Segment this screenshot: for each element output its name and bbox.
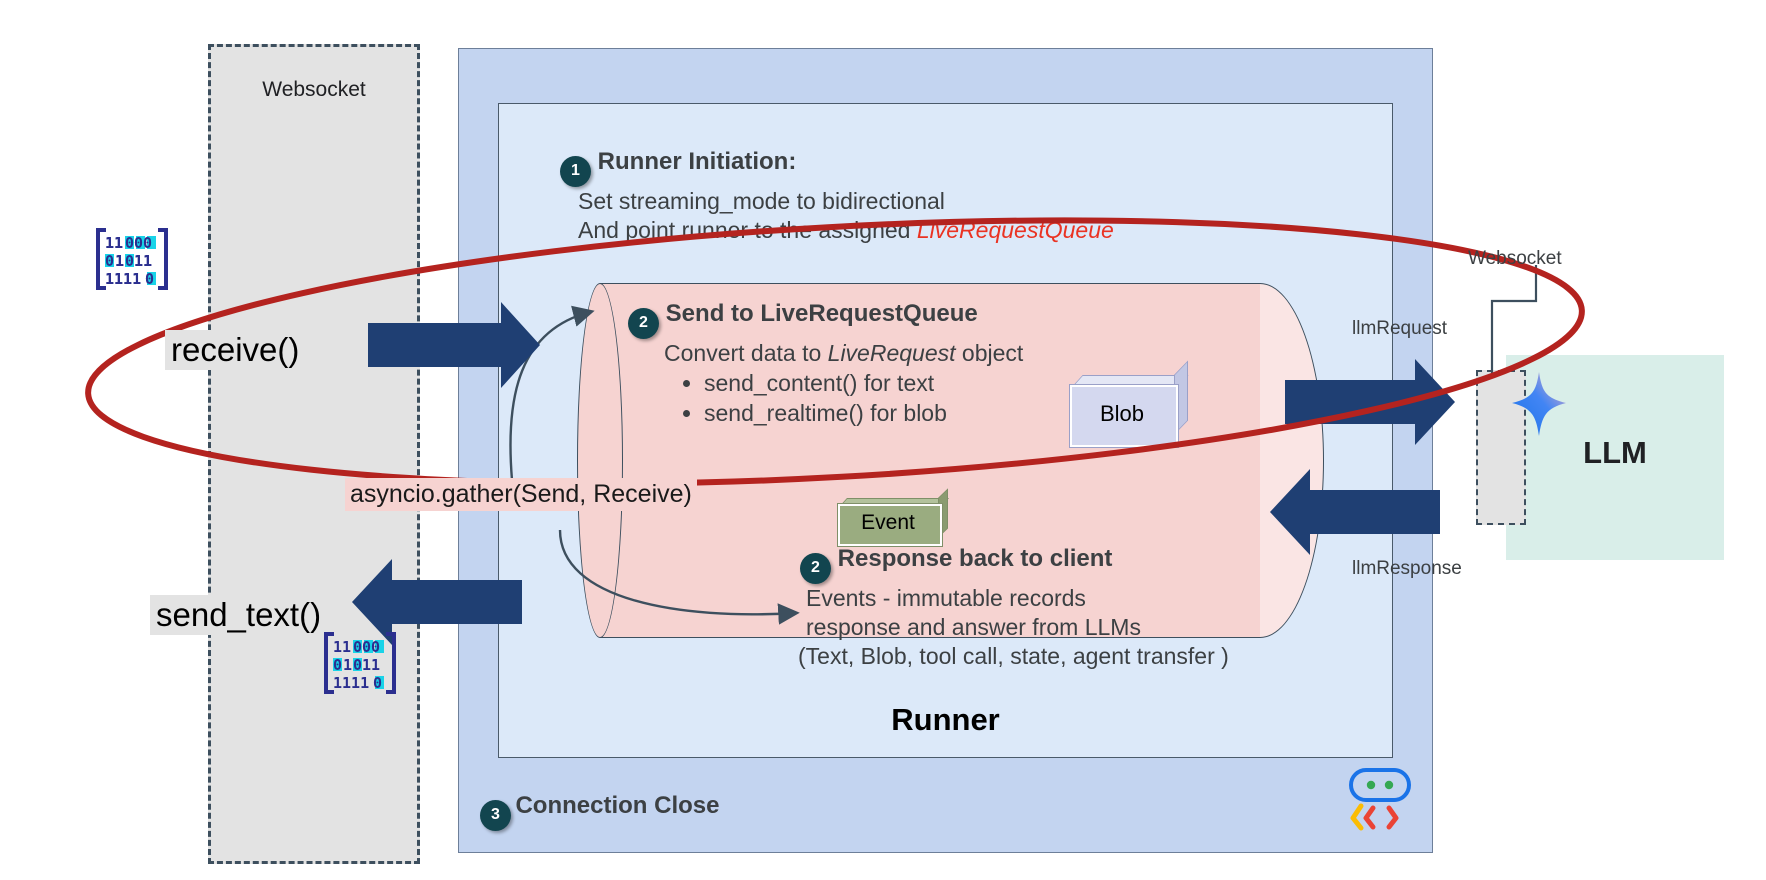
step-2-subtitle-suffix: object (956, 340, 1024, 366)
step-2-heading: 2 Send to LiveRequestQueue (628, 300, 1188, 339)
step-1-heading: 1 Runner Initiation: (560, 148, 1260, 187)
step-1-badge: 1 (560, 156, 591, 187)
step-3-badge: 2 (800, 553, 831, 584)
step-4-block: 3 Connection Close (480, 792, 719, 831)
websocket-client-box (208, 44, 420, 864)
step-3-title: Response back to client (838, 545, 1113, 572)
step-2-subtitle-emphasis: LiveRequest (828, 340, 956, 366)
step-1-emphasis: LiveRequestQueue (917, 217, 1114, 243)
binary-data-icon: 11000 01011 11110 11000 01011 11110 (94, 228, 170, 290)
llm-label: LLM (1506, 435, 1724, 471)
svg-text:0: 0 (105, 252, 114, 270)
llm-request-label: llmRequest (1352, 318, 1447, 340)
event-label: Event (838, 504, 938, 542)
receive-call-label: receive() (165, 330, 305, 370)
svg-text:0: 0 (373, 674, 382, 692)
diagram-canvas: Websocket 1 Runner Initiation: Set strea… (0, 0, 1766, 880)
svg-text:0: 0 (145, 270, 154, 288)
step-2-subtitle: Convert data to LiveRequest object (664, 339, 1188, 368)
step-3-heading: 2 Response back to client (800, 545, 1360, 584)
queue-cylinder-left-cap (577, 283, 623, 638)
blob-object-icon: Blob (1070, 375, 1184, 443)
binary-data-icon: 11000 01011 11110 (322, 632, 398, 694)
step-2-subtitle-prefix: Convert data to (664, 340, 828, 366)
svg-text:1111: 1111 (105, 270, 141, 288)
step-3-block: 2 Response back to client Events - immut… (800, 545, 1360, 672)
websocket-client-label: Websocket (208, 78, 420, 102)
step-3-line-2: response and answer from LLMs (806, 613, 1360, 642)
svg-text:1: 1 (343, 656, 352, 674)
svg-text:1111: 1111 (333, 674, 369, 692)
asyncio-gather-label: asyncio.gather(Send, Receive) (345, 478, 697, 511)
svg-text:011: 011 (353, 656, 380, 674)
llm-websocket-connector (1430, 265, 1570, 385)
llm-response-label: llmResponse (1352, 558, 1462, 580)
step-3-line-1: Events - immutable records (806, 584, 1360, 613)
step-4-badge: 3 (480, 800, 511, 831)
step-1-block: 1 Runner Initiation: Set streaming_mode … (560, 148, 1260, 245)
step-1-line-2-text: And point runner to the assigned (578, 217, 917, 243)
svg-text:011: 011 (125, 252, 152, 270)
svg-text:11: 11 (333, 638, 351, 656)
svg-text:1: 1 (115, 252, 124, 270)
svg-text:000: 000 (353, 638, 380, 656)
svg-text:11: 11 (105, 234, 123, 252)
event-object-icon: Event (838, 498, 950, 542)
step-4-title: Connection Close (515, 792, 719, 819)
adk-logo-icon (1348, 768, 1412, 830)
blob-label: Blob (1070, 385, 1174, 443)
step-3-line-3: (Text, Blob, tool call, state, agent tra… (798, 642, 1360, 671)
runner-title: Runner (498, 702, 1393, 738)
step-2-badge: 2 (628, 308, 659, 339)
step-1-line-1: Set streaming_mode to bidirectional (578, 187, 1260, 216)
svg-text:000: 000 (125, 234, 152, 252)
step-1-line-2: And point runner to the assigned LiveReq… (578, 216, 1260, 245)
llm-websocket-label: Websocket (1468, 248, 1562, 270)
svg-text:0: 0 (333, 656, 342, 674)
step-2-title: Send to LiveRequestQueue (666, 300, 978, 327)
send-text-call-label: send_text() (150, 595, 327, 635)
step-1-title: Runner Initiation: (598, 148, 797, 175)
